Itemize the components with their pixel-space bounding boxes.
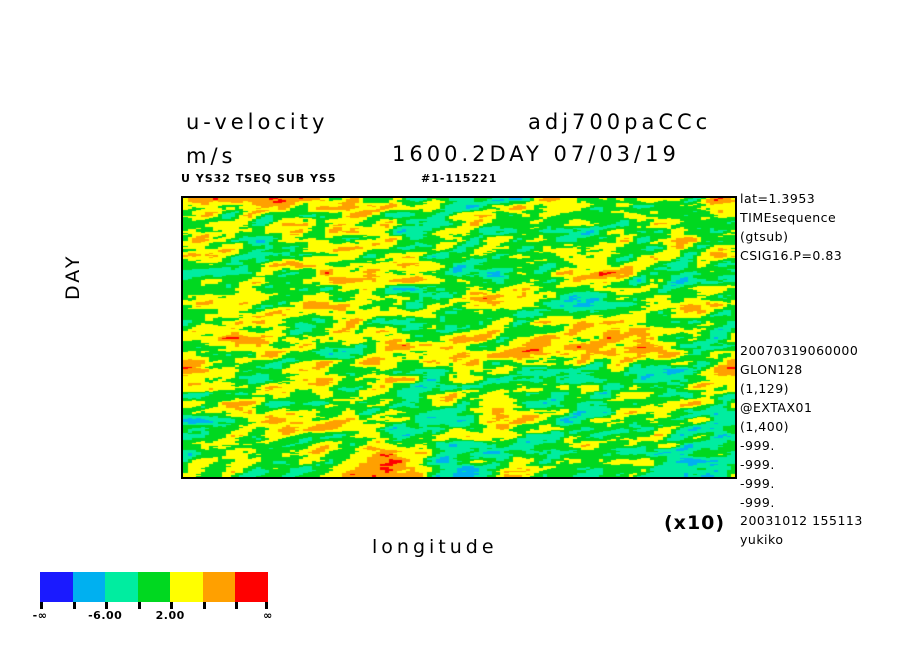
- metadata-line: yukiko: [740, 532, 863, 548]
- colorbar-label: -∞: [33, 609, 48, 622]
- x-axis-multiplier: (x10): [664, 512, 725, 534]
- colorbar-band-5: [203, 572, 236, 602]
- metadata-panel-top: lat=1.3953TIMEsequence(gtsub)CSIG16.P=0.…: [740, 191, 842, 264]
- colorbar-label: 2.00: [156, 609, 185, 622]
- metadata-line: -999.: [740, 495, 858, 511]
- colorbar-swatches: [40, 572, 268, 602]
- metadata-line: -999.: [740, 476, 858, 492]
- metadata-panel-footer: 20031012 155113yukiko: [740, 513, 863, 548]
- metadata-line: (gtsub): [740, 229, 842, 245]
- colorbar-ticks: [40, 602, 268, 609]
- colorbar-tick: [170, 602, 173, 609]
- colorbar-tick: [138, 602, 141, 609]
- colorbar-band-6: [235, 572, 268, 602]
- metadata-line: (1,129): [740, 381, 858, 397]
- colorbar-tick: [235, 602, 238, 609]
- heatmap-plot-area: 160016201640166016801700 036912151821242…: [181, 196, 737, 479]
- x-axis-title: longitude: [372, 536, 498, 558]
- metadata-line: lat=1.3953: [740, 191, 842, 207]
- metadata-line: (1,400): [740, 419, 858, 435]
- colorbar-band-0: [40, 572, 73, 602]
- metadata-line: @EXTAX01: [740, 400, 858, 416]
- colorbar-tick: [73, 602, 76, 609]
- metadata-line: GLON128: [740, 362, 858, 378]
- y-axis-title: DAY: [62, 254, 84, 300]
- record-id: #1-115221: [421, 172, 497, 185]
- colorbar-tick: [265, 602, 268, 609]
- colorbar-band-4: [170, 572, 203, 602]
- metadata-line: TIMEsequence: [740, 210, 842, 226]
- dataset-descriptor: U YS32 TSEQ SUB YS5: [181, 172, 337, 185]
- colorbar-band-2: [105, 572, 138, 602]
- metadata-line: -999.: [740, 457, 858, 473]
- colorbar-band-1: [73, 572, 106, 602]
- colorbar-labels: -∞-6.002.00∞: [40, 609, 300, 625]
- metadata-line: CSIG16.P=0.83: [740, 248, 842, 264]
- page-title: u-velocity: [186, 110, 328, 134]
- colorbar-tick: [203, 602, 206, 609]
- timestamp-label: 1600.2DAY 07/03/19: [392, 142, 680, 166]
- colorbar-tick: [105, 602, 108, 609]
- colorbar-label: ∞: [263, 609, 273, 622]
- colorbar-tick: [40, 602, 43, 609]
- metadata-line: 20070319060000: [740, 343, 858, 359]
- colorbar-label: -6.00: [88, 609, 122, 622]
- dataset-label: adj700paCCc: [528, 110, 711, 134]
- metadata-line: -999.: [740, 438, 858, 454]
- colorbar: -∞-6.002.00∞: [40, 572, 300, 625]
- metadata-panel-bottom: 20070319060000GLON128(1,129)@EXTAX01(1,4…: [740, 343, 858, 511]
- colorbar-band-3: [138, 572, 171, 602]
- metadata-line: 20031012 155113: [740, 513, 863, 529]
- units-label: m/s: [186, 144, 236, 168]
- heatmap-canvas: [183, 198, 735, 477]
